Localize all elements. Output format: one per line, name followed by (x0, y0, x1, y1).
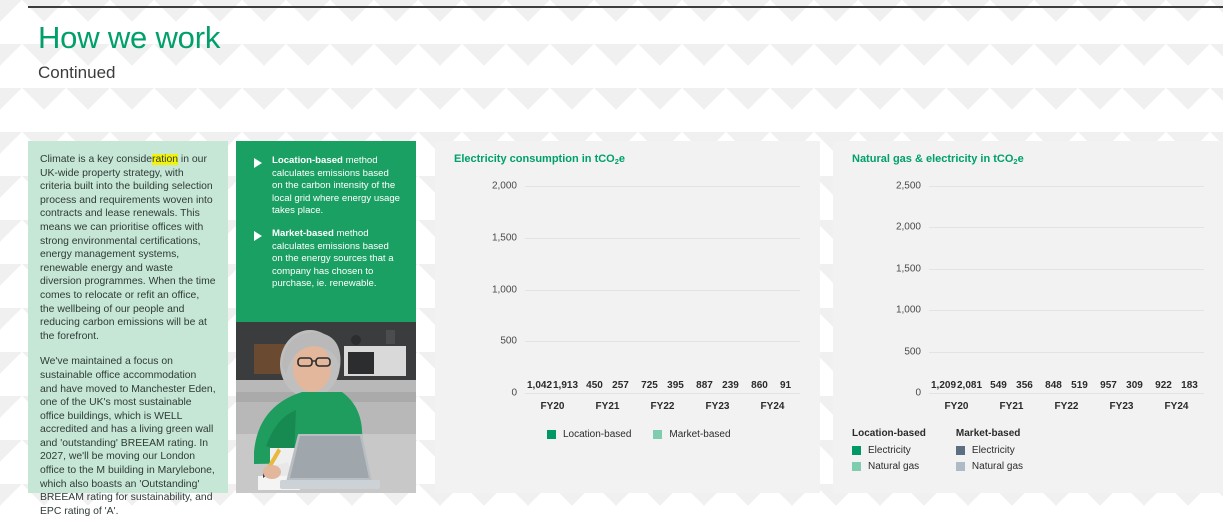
chart-2-title-tail: e (1018, 153, 1024, 165)
gridline: 500 (929, 352, 1204, 353)
bar-group: 1,0421,913FY20 (529, 187, 577, 394)
bar-value-label: 239 (722, 380, 739, 391)
chart-1-plot-area: 1,0421,913FY20450257FY21725395FY22887239… (525, 187, 800, 394)
bar-value-label: 309 (1126, 380, 1143, 391)
gridline: 0 (525, 393, 800, 394)
legend-group-title: Market-based (956, 428, 1023, 439)
definition-item: Market-based method calculates emissions… (246, 228, 402, 291)
y-axis-tick-label: 2,500 (896, 181, 921, 192)
y-axis-tick-label: 1,500 (896, 263, 921, 274)
chart-2-title-main: Natural gas & electricity in tCO (852, 153, 1013, 165)
x-axis-tick-label: FY24 (1165, 401, 1189, 412)
electricity-consumption-chart-panel: Electricity consumption in tCO2e 1,0421,… (435, 141, 820, 493)
definition-text: Market-based method calculates emissions… (272, 228, 402, 291)
x-axis-tick-label: FY23 (1110, 401, 1134, 412)
definition-term: Location-based (272, 155, 343, 166)
bar-value-label: 257 (612, 380, 629, 391)
legend-label-market-based: Market-based (669, 429, 730, 440)
gridline: 2,500 (929, 186, 1204, 187)
chart-2-plot-area: 1,2092,081FY20549356FY21848519FY22957309… (929, 187, 1204, 394)
legend-swatch-lb-electricity (852, 446, 861, 455)
chart-2-title: Natural gas & electricity in tCO2e (852, 153, 1024, 165)
definition-term: Market-based (272, 228, 334, 239)
bar-value-label: 395 (667, 380, 684, 391)
bar-value-label: 1,913 (553, 380, 578, 391)
paragraph-1-pre: Climate is a key conside (40, 154, 152, 165)
top-divider-rule (28, 6, 1223, 8)
natural-gas-electricity-chart-panel: Natural gas & electricity in tCO2e 1,209… (833, 141, 1223, 493)
bar-group: 450257FY21 (584, 187, 632, 394)
bar-group: 887239FY23 (694, 187, 742, 394)
bar-value-label: 1,042 (527, 380, 552, 391)
chart-2-title-subscript: 2 (1013, 157, 1017, 166)
bar-group: 957309FY23 (1098, 187, 1146, 394)
bar-value-label: 2,081 (957, 380, 982, 391)
y-axis-tick-label: 2,000 (896, 222, 921, 233)
bar-value-label: 519 (1071, 380, 1088, 391)
gridline: 2,000 (929, 227, 1204, 228)
bar-group: 848519FY22 (1043, 187, 1091, 394)
gridline: 0 (929, 393, 1204, 394)
chart-1-bar-groups: 1,0421,913FY20450257FY21725395FY22887239… (525, 187, 800, 394)
chart-1-title-main: Electricity consumption in tCO (454, 153, 615, 165)
bar-group: 922183FY24 (1153, 187, 1201, 394)
bar-group: 86091FY24 (749, 187, 797, 394)
gridline: 1,000 (525, 290, 800, 291)
paragraph-1-post: in our UK-wide property strategy, with c… (40, 154, 216, 342)
x-axis-tick-label: FY24 (761, 401, 785, 412)
bar-value-label: 957 (1100, 380, 1117, 391)
gridline: 1,000 (929, 310, 1204, 311)
legend-item-lb-natural-gas: Natural gas (852, 461, 926, 472)
x-axis-tick-label: FY22 (651, 401, 675, 412)
legend-label-lb-natural-gas: Natural gas (868, 461, 919, 472)
chart-2-legend: Location-based Electricity Natural gas M… (852, 428, 1023, 477)
gridline: 500 (525, 341, 800, 342)
bar-value-label: 183 (1181, 380, 1198, 391)
y-axis-tick-label: 0 (511, 388, 517, 399)
methodology-definitions-box: Location-based method calculates emissio… (236, 141, 416, 322)
legend-item-mb-electricity: Electricity (956, 445, 1023, 456)
gridline: 1,500 (525, 238, 800, 239)
chart-2-bar-groups: 1,2092,081FY20549356FY21848519FY22957309… (929, 187, 1204, 394)
x-axis-tick-label: FY21 (596, 401, 620, 412)
chart-1-legend: Location-based Market-based (547, 429, 731, 440)
y-axis-tick-label: 500 (904, 346, 921, 357)
bar-value-label: 848 (1045, 380, 1062, 391)
x-axis-tick-label: FY20 (945, 401, 969, 412)
legend-item-location-based: Location-based (547, 429, 631, 440)
legend-group-title: Location-based (852, 428, 926, 439)
triangle-bullet-icon (254, 158, 262, 168)
legend-label-location-based: Location-based (563, 429, 631, 440)
woman-working-on-laptop-photo (236, 322, 416, 493)
bar-value-label: 450 (586, 380, 603, 391)
chart-1-title: Electricity consumption in tCO2e (454, 153, 625, 165)
legend-swatch-market-based (653, 430, 662, 439)
legend-label-lb-electricity: Electricity (868, 445, 911, 456)
y-axis-tick-label: 1,500 (492, 232, 517, 243)
intro-text-panel: Climate is a key consideration in our UK… (28, 141, 228, 493)
legend-item-mb-natural-gas: Natural gas (956, 461, 1023, 472)
bar-value-label: 725 (641, 380, 658, 391)
intro-paragraph-2: We've maintained a focus on sustainable … (40, 355, 216, 518)
y-axis-tick-label: 500 (500, 336, 517, 347)
legend-label-mb-electricity: Electricity (972, 445, 1015, 456)
bar-group: 725395FY22 (639, 187, 687, 394)
y-axis-tick-label: 1,000 (492, 284, 517, 295)
bar-value-label: 887 (696, 380, 713, 391)
x-axis-tick-label: FY21 (1000, 401, 1024, 412)
gridline: 2,000 (525, 186, 800, 187)
bar-group: 1,2092,081FY20 (933, 187, 981, 394)
legend-label-mb-natural-gas: Natural gas (972, 461, 1023, 472)
highlighted-text: ration (152, 154, 178, 165)
page-subtitle: Continued (38, 63, 220, 83)
page-title: How we work (38, 22, 220, 55)
x-axis-tick-label: FY23 (706, 401, 730, 412)
bar-value-label: 91 (780, 380, 791, 391)
bar-value-label: 549 (990, 380, 1007, 391)
bar-group: 549356FY21 (988, 187, 1036, 394)
x-axis-tick-label: FY20 (541, 401, 565, 412)
legend-group-location-based: Location-based Electricity Natural gas (852, 428, 926, 477)
y-axis-tick-label: 0 (915, 388, 921, 399)
legend-swatch-mb-electricity (956, 446, 965, 455)
legend-swatch-mb-natural-gas (956, 462, 965, 471)
legend-swatch-location-based (547, 430, 556, 439)
gridline: 1,500 (929, 269, 1204, 270)
legend-swatch-lb-natural-gas (852, 462, 861, 471)
y-axis-tick-label: 1,000 (896, 305, 921, 316)
definition-item: Location-based method calculates emissio… (246, 155, 402, 218)
triangle-bullet-icon (254, 231, 262, 241)
legend-group-market-based: Market-based Electricity Natural gas (956, 428, 1023, 477)
bar-value-label: 1,209 (931, 380, 956, 391)
bar-value-label: 922 (1155, 380, 1172, 391)
legend-item-lb-electricity: Electricity (852, 445, 926, 456)
bar-value-label: 860 (751, 380, 768, 391)
chart-1-title-tail: e (619, 153, 625, 165)
page-header: How we work Continued (38, 22, 220, 83)
x-axis-tick-label: FY22 (1055, 401, 1079, 412)
definition-text: Location-based method calculates emissio… (272, 155, 402, 218)
y-axis-tick-label: 2,000 (492, 181, 517, 192)
bar-value-label: 356 (1016, 380, 1033, 391)
intro-paragraph-1: Climate is a key consideration in our UK… (40, 153, 216, 343)
chart-1-title-subscript: 2 (615, 157, 619, 166)
legend-item-market-based: Market-based (653, 429, 730, 440)
